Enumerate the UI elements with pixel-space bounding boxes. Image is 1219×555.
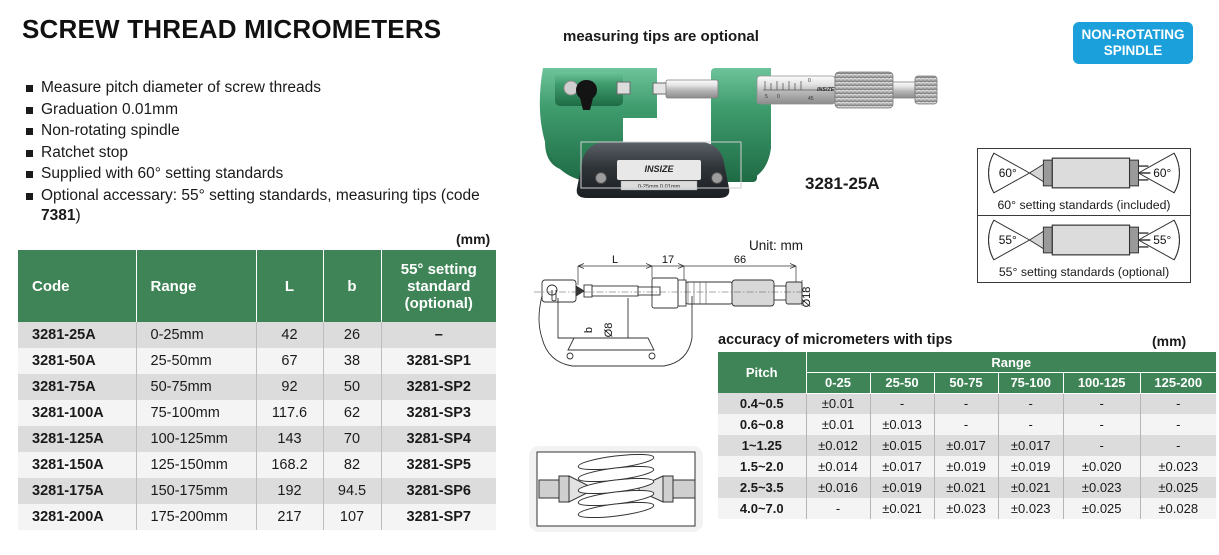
spec-table-unit-caption: (mm) bbox=[456, 231, 490, 247]
feature-item: Graduation 0.01mm bbox=[26, 100, 496, 121]
table-row: 3281-150A125-150mm168.2823281-SP5 bbox=[18, 452, 496, 478]
bullet-square-icon bbox=[26, 193, 33, 200]
dim-17: 17 bbox=[662, 254, 674, 266]
badge-line-2: SPINDLE bbox=[1104, 43, 1163, 59]
spec-cell-code: 3281-175A bbox=[18, 478, 136, 504]
spec-table-body: 3281-25A0-25mm4226–3281-50A25-50mm673832… bbox=[18, 322, 496, 530]
accuracy-table-body: 0.4~0.5±0.01-----0.6~0.8±0.01±0.013----1… bbox=[718, 393, 1216, 519]
table-row: 2.5~3.5±0.016±0.019±0.021±0.021±0.023±0.… bbox=[718, 477, 1216, 498]
accuracy-cell-value: ±0.01 bbox=[806, 393, 870, 414]
accuracy-cell-value: ±0.017 bbox=[998, 435, 1063, 456]
accuracy-cell-value: - bbox=[1063, 435, 1140, 456]
angle-label-left: 60° bbox=[999, 166, 1017, 180]
feature-item-label: Non-rotating spindle bbox=[41, 121, 496, 142]
accuracy-cell-value: - bbox=[998, 393, 1063, 414]
accuracy-cell-value: ±0.023 bbox=[998, 498, 1063, 519]
spec-col-b: b bbox=[323, 250, 381, 322]
accuracy-cell-value: ±0.021 bbox=[870, 498, 934, 519]
feature-item-label: Optional accessary: 55° setting standard… bbox=[41, 186, 496, 227]
bullet-square-icon bbox=[26, 85, 33, 92]
accuracy-cell-pitch: 0.6~0.8 bbox=[718, 414, 806, 435]
scale-label: 0-25mm 0.01mm bbox=[638, 184, 681, 190]
table-row: 0.6~0.8±0.01±0.013---- bbox=[718, 414, 1216, 435]
spec-cell-l: 143 bbox=[256, 426, 323, 452]
accuracy-cell-value: ±0.021 bbox=[934, 477, 998, 498]
spec-cell-55-standard: 3281-SP1 bbox=[381, 348, 496, 374]
non-rotating-spindle-badge: NON-ROTATING SPINDLE bbox=[1073, 22, 1193, 64]
bullet-square-icon bbox=[26, 128, 33, 135]
micrometer-photo-svg: 5 0 0 45 INSIZE INSIZE 0-25mm 0.01mm bbox=[525, 50, 945, 210]
setting-standard-box: 60°60°60° setting standards (included) bbox=[977, 148, 1191, 216]
accuracy-cell-value: - bbox=[1140, 393, 1216, 414]
setting-standard-illustration: 55°55° bbox=[978, 216, 1190, 264]
angle-label-right: 60° bbox=[1153, 166, 1171, 180]
spec-col-55-line3: (optional) bbox=[382, 295, 497, 312]
spec-cell-b: 50 bbox=[323, 374, 381, 400]
feature-item: Optional accessary: 55° setting standard… bbox=[26, 186, 496, 227]
spec-col-l: L bbox=[256, 250, 323, 322]
table-row: 3281-125A100-125mm143703281-SP4 bbox=[18, 426, 496, 452]
spec-col-code: Code bbox=[18, 250, 136, 322]
bullet-square-icon bbox=[26, 150, 33, 157]
spec-cell-range: 150-175mm bbox=[136, 478, 256, 504]
accuracy-cell-value: ±0.013 bbox=[870, 414, 934, 435]
accuracy-header-row-1: Pitch Range bbox=[718, 352, 1216, 373]
spec-cell-l: 92 bbox=[256, 374, 323, 400]
accuracy-cell-pitch: 2.5~3.5 bbox=[718, 477, 806, 498]
setting-standard-label: 60° setting standards (included) bbox=[978, 197, 1190, 215]
table-row: 1~1.25±0.012±0.015±0.017±0.017-- bbox=[718, 435, 1216, 456]
spec-cell-l: 168.2 bbox=[256, 452, 323, 478]
table-row: 0.4~0.5±0.01----- bbox=[718, 393, 1216, 414]
accuracy-cell-value: - bbox=[806, 498, 870, 519]
spec-cell-55-standard: 3281-SP3 bbox=[381, 400, 496, 426]
accuracy-cell-value: - bbox=[1140, 435, 1216, 456]
measuring-tips-note: measuring tips are optional bbox=[563, 28, 759, 45]
spec-col-55-standard: 55° setting standard (optional) bbox=[381, 250, 496, 322]
feature-item-label: Measure pitch diameter of screw threads bbox=[41, 78, 496, 99]
spec-cell-55-standard: 3281-SP6 bbox=[381, 478, 496, 504]
spec-cell-l: 192 bbox=[256, 478, 323, 504]
spec-cell-55-standard: 3281-SP4 bbox=[381, 426, 496, 452]
badge-line-1: NON-ROTATING bbox=[1082, 27, 1185, 43]
spec-cell-l: 217 bbox=[256, 504, 323, 530]
spec-table-head: Code Range L b 55° setting standard (opt… bbox=[18, 250, 496, 322]
spec-cell-b: 107 bbox=[323, 504, 381, 530]
spec-cell-code: 3281-50A bbox=[18, 348, 136, 374]
setting-standards-boxes: 60°60°60° setting standards (included)55… bbox=[977, 148, 1191, 283]
spec-cell-range: 75-100mm bbox=[136, 400, 256, 426]
spec-cell-55-standard: 3281-SP5 bbox=[381, 452, 496, 478]
angle-label-right: 55° bbox=[1153, 233, 1171, 247]
svg-text:0: 0 bbox=[808, 78, 811, 84]
feature-item-label: Ratchet stop bbox=[41, 143, 496, 164]
accuracy-col-range-25-50: 25-50 bbox=[870, 373, 934, 394]
setting-standard-illustration: 60°60° bbox=[978, 149, 1190, 197]
spec-cell-l: 117.6 bbox=[256, 400, 323, 426]
table-row: 3281-25A0-25mm4226– bbox=[18, 322, 496, 348]
accuracy-col-range-50-75: 50-75 bbox=[934, 373, 998, 394]
accuracy-cell-value: ±0.023 bbox=[1063, 477, 1140, 498]
accuracy-cell-pitch: 0.4~0.5 bbox=[718, 393, 806, 414]
spec-col-55-line1: 55° setting bbox=[382, 261, 497, 278]
accuracy-cell-value: - bbox=[1063, 414, 1140, 435]
accuracy-cell-value: ±0.019 bbox=[934, 456, 998, 477]
micrometer-photo: 5 0 0 45 INSIZE INSIZE 0-25mm 0.01mm bbox=[525, 50, 945, 210]
table-row: 3281-75A50-75mm92503281-SP2 bbox=[18, 374, 496, 400]
thread-drawing-svg bbox=[525, 440, 707, 538]
accuracy-cell-value: ±0.019 bbox=[998, 456, 1063, 477]
spec-cell-range: 125-150mm bbox=[136, 452, 256, 478]
setting-standard-label: 55° setting standards (optional) bbox=[978, 264, 1190, 282]
svg-text:5: 5 bbox=[765, 94, 768, 100]
accuracy-table-title: accuracy of micrometers with tips bbox=[718, 332, 953, 348]
spec-cell-code: 3281-25A bbox=[18, 322, 136, 348]
accuracy-cell-pitch: 4.0~7.0 bbox=[718, 498, 806, 519]
table-row: 4.0~7.0-±0.021±0.023±0.023±0.025±0.028 bbox=[718, 498, 1216, 519]
accuracy-cell-value: ±0.021 bbox=[998, 477, 1063, 498]
dim-dia8: Ø8 bbox=[603, 323, 615, 338]
spec-table: Code Range L b 55° setting standard (opt… bbox=[18, 250, 496, 530]
thread-measuring-tips-drawing bbox=[525, 440, 707, 538]
spec-cell-code: 3281-125A bbox=[18, 426, 136, 452]
accuracy-table: Pitch Range 0-2525-5050-7575-100100-1251… bbox=[718, 352, 1216, 519]
spec-cell-b: 94.5 bbox=[323, 478, 381, 504]
spec-cell-range: 175-200mm bbox=[136, 504, 256, 530]
angle-label-left: 55° bbox=[999, 233, 1017, 247]
accuracy-cell-value: - bbox=[934, 393, 998, 414]
dim-b: b bbox=[583, 327, 595, 333]
accuracy-table-head: Pitch Range 0-2525-5050-7575-100100-1251… bbox=[718, 352, 1216, 393]
brand-mark-barrel: INSIZE bbox=[817, 87, 835, 93]
accuracy-col-range-0-25: 0-25 bbox=[806, 373, 870, 394]
accuracy-cell-value: ±0.023 bbox=[934, 498, 998, 519]
spec-cell-b: 26 bbox=[323, 322, 381, 348]
accuracy-cell-value: ±0.016 bbox=[806, 477, 870, 498]
table-row: 3281-100A75-100mm117.6623281-SP3 bbox=[18, 400, 496, 426]
accuracy-cell-value: ±0.023 bbox=[1140, 456, 1216, 477]
brand-mark-base: INSIZE bbox=[644, 164, 674, 174]
accuracy-cell-value: - bbox=[870, 393, 934, 414]
dim-dia18: Ø18 bbox=[801, 287, 813, 308]
spec-cell-b: 38 bbox=[323, 348, 381, 374]
svg-text:0: 0 bbox=[777, 94, 780, 100]
dim-L: L bbox=[612, 254, 618, 266]
bullet-square-icon bbox=[26, 107, 33, 114]
spec-table-wrapper: Code Range L b 55° setting standard (opt… bbox=[18, 250, 496, 530]
spec-cell-55-standard: 3281-SP2 bbox=[381, 374, 496, 400]
accuracy-cell-pitch: 1~1.25 bbox=[718, 435, 806, 456]
spec-cell-range: 25-50mm bbox=[136, 348, 256, 374]
page-title: SCREW THREAD MICROMETERS bbox=[22, 14, 441, 45]
accuracy-cell-value: ±0.028 bbox=[1140, 498, 1216, 519]
accuracy-col-pitch: Pitch bbox=[718, 352, 806, 393]
accuracy-cell-value: ±0.01 bbox=[806, 414, 870, 435]
accuracy-col-range-100-125: 100-125 bbox=[1063, 373, 1140, 394]
accuracy-cell-value: - bbox=[1063, 393, 1140, 414]
feature-item: Non-rotating spindle bbox=[26, 121, 496, 142]
spec-cell-range: 100-125mm bbox=[136, 426, 256, 452]
accuracy-cell-value: ±0.025 bbox=[1140, 477, 1216, 498]
spec-cell-b: 82 bbox=[323, 452, 381, 478]
spec-cell-code: 3281-150A bbox=[18, 452, 136, 478]
unit-note: Unit: mm bbox=[749, 238, 803, 253]
accuracy-cell-value: - bbox=[1140, 414, 1216, 435]
accuracy-col-range-75-100: 75-100 bbox=[998, 373, 1063, 394]
spec-cell-55-standard: – bbox=[381, 322, 496, 348]
feature-list: Measure pitch diameter of screw threadsG… bbox=[26, 78, 496, 228]
spec-cell-code: 3281-75A bbox=[18, 374, 136, 400]
accuracy-table-unit-caption: (mm) bbox=[1152, 333, 1186, 349]
accuracy-cell-value: ±0.014 bbox=[806, 456, 870, 477]
spec-cell-range: 50-75mm bbox=[136, 374, 256, 400]
accuracy-cell-value: - bbox=[998, 414, 1063, 435]
spec-col-55-line2: standard bbox=[382, 278, 497, 295]
spec-cell-l: 67 bbox=[256, 348, 323, 374]
feature-item: Supplied with 60° setting standards bbox=[26, 164, 496, 185]
accuracy-cell-value: ±0.025 bbox=[1063, 498, 1140, 519]
spec-cell-range: 0-25mm bbox=[136, 322, 256, 348]
feature-item-label: Graduation 0.01mm bbox=[41, 100, 496, 121]
feature-item-label: Supplied with 60° setting standards bbox=[41, 164, 496, 185]
setting-standard-box: 55°55°55° setting standards (optional) bbox=[977, 216, 1191, 283]
table-row: 3281-175A150-175mm19294.53281-SP6 bbox=[18, 478, 496, 504]
accuracy-cell-value: ±0.019 bbox=[870, 477, 934, 498]
accuracy-col-range-125-200: 125-200 bbox=[1140, 373, 1216, 394]
spec-cell-55-standard: 3281-SP7 bbox=[381, 504, 496, 530]
accuracy-cell-value: ±0.017 bbox=[934, 435, 998, 456]
accuracy-cell-value: ±0.017 bbox=[870, 456, 934, 477]
table-row: 1.5~2.0±0.014±0.017±0.019±0.019±0.020±0.… bbox=[718, 456, 1216, 477]
accuracy-col-range-group: Range bbox=[806, 352, 1216, 373]
feature-item: Ratchet stop bbox=[26, 143, 496, 164]
spec-cell-code: 3281-100A bbox=[18, 400, 136, 426]
spec-col-range: Range bbox=[136, 250, 256, 322]
spec-cell-b: 70 bbox=[323, 426, 381, 452]
accuracy-cell-pitch: 1.5~2.0 bbox=[718, 456, 806, 477]
bullet-square-icon bbox=[26, 171, 33, 178]
accuracy-cell-value: - bbox=[934, 414, 998, 435]
spec-cell-code: 3281-200A bbox=[18, 504, 136, 530]
dim-66: 66 bbox=[734, 254, 746, 266]
accessory-code: 7381 bbox=[41, 207, 75, 224]
svg-text:45: 45 bbox=[808, 96, 814, 102]
accuracy-table-wrapper: Pitch Range 0-2525-5050-7575-100100-1251… bbox=[718, 352, 1216, 519]
table-row: 3281-200A175-200mm2171073281-SP7 bbox=[18, 504, 496, 530]
table-row: 3281-50A25-50mm67383281-SP1 bbox=[18, 348, 496, 374]
accuracy-cell-value: ±0.020 bbox=[1063, 456, 1140, 477]
spec-cell-b: 62 bbox=[323, 400, 381, 426]
spec-table-header-row: Code Range L b 55° setting standard (opt… bbox=[18, 250, 496, 322]
spec-cell-l: 42 bbox=[256, 322, 323, 348]
accuracy-cell-value: ±0.012 bbox=[806, 435, 870, 456]
accuracy-cell-value: ±0.015 bbox=[870, 435, 934, 456]
feature-item: Measure pitch diameter of screw threads bbox=[26, 78, 496, 99]
